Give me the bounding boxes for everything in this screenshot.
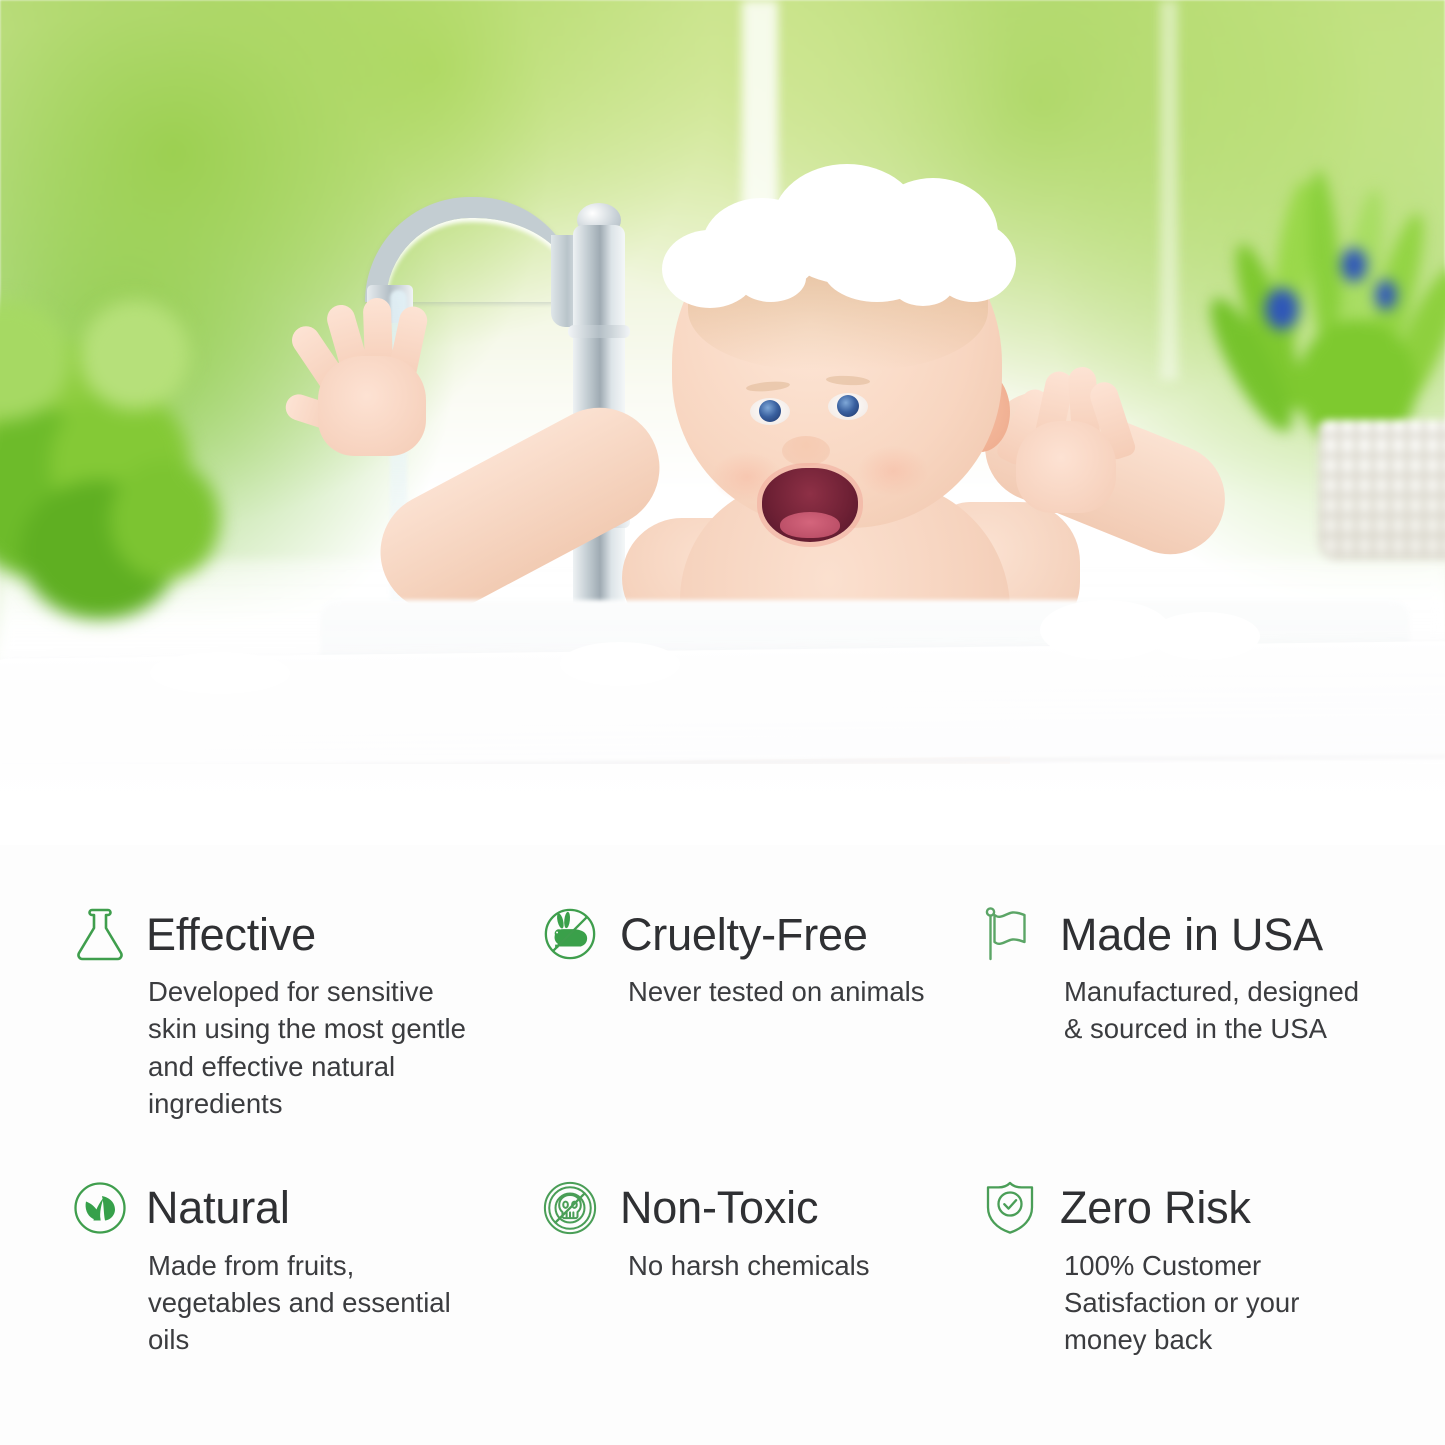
feature-header: Natural bbox=[72, 1179, 518, 1237]
feature-description: 100% Customer Satisfaction or your money… bbox=[982, 1247, 1361, 1359]
feature-header: Cruelty-Free bbox=[542, 905, 958, 963]
no-rabbit-icon bbox=[542, 905, 598, 963]
feature-grid: Effective Developed for sensitive skin u… bbox=[0, 905, 1445, 1359]
feature-description: Never tested on animals bbox=[542, 973, 942, 1010]
window-frame-edge bbox=[1160, 0, 1178, 380]
herb-plant bbox=[0, 300, 260, 630]
feature-title: Effective bbox=[146, 912, 316, 957]
baby-left-hand bbox=[300, 298, 450, 458]
baby-cheek-right bbox=[858, 446, 928, 496]
no-skull-icon bbox=[542, 1179, 598, 1237]
baby-nose bbox=[782, 436, 830, 466]
feature-description: No harsh chemicals bbox=[542, 1247, 942, 1284]
baby-right-hand bbox=[1000, 365, 1130, 510]
flag-icon bbox=[982, 905, 1038, 963]
feature-zero-risk: Zero Risk 100% Customer Satisfaction or … bbox=[982, 1179, 1385, 1359]
feature-title: Cruelty-Free bbox=[620, 912, 868, 957]
feature-description: Developed for sensitive skin using the m… bbox=[72, 973, 472, 1123]
feature-made-in-usa: Made in USA Manufactured, designed & sou… bbox=[982, 905, 1385, 1123]
baby-tongue bbox=[780, 512, 840, 538]
feature-title: Natural bbox=[146, 1185, 290, 1230]
feature-title: Non-Toxic bbox=[620, 1185, 818, 1230]
leaves-icon bbox=[72, 1179, 128, 1237]
hero-photo bbox=[0, 0, 1445, 845]
feature-header: Non-Toxic bbox=[542, 1179, 958, 1237]
feature-description: Manufactured, designed & sourced in the … bbox=[982, 973, 1361, 1048]
feature-natural: Natural Made from fruits, vegetables and… bbox=[72, 1179, 542, 1359]
feature-description: Made from fruits, vegetables and essenti… bbox=[72, 1247, 472, 1359]
hero-bottom-fade bbox=[0, 615, 1445, 845]
feature-non-toxic: Non-Toxic No harsh chemicals bbox=[542, 1179, 982, 1359]
baby-eye-right bbox=[828, 393, 868, 420]
feature-cruelty-free: Cruelty-Free Never tested on animals bbox=[542, 905, 982, 1123]
product-feature-page: Effective Developed for sensitive skin u… bbox=[0, 0, 1445, 1445]
baby-eye-left bbox=[750, 398, 790, 425]
feature-header: Made in USA bbox=[982, 905, 1361, 963]
feature-header: Effective bbox=[72, 905, 518, 963]
soap-foam-on-head bbox=[662, 158, 1014, 308]
flask-icon bbox=[72, 905, 128, 963]
feature-effective: Effective Developed for sensitive skin u… bbox=[72, 905, 542, 1123]
woven-basket-pot bbox=[1318, 420, 1445, 560]
feature-title: Made in USA bbox=[1060, 912, 1323, 957]
feature-title: Zero Risk bbox=[1060, 1185, 1251, 1230]
shield-check-icon bbox=[982, 1179, 1038, 1237]
feature-header: Zero Risk bbox=[982, 1179, 1361, 1237]
